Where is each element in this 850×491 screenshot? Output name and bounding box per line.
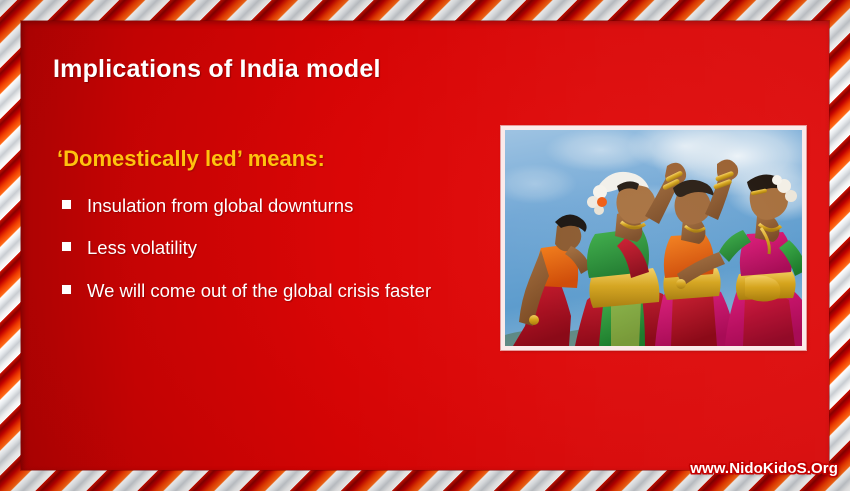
slide-frame: Implications of India model ‘Domesticall… bbox=[0, 0, 850, 491]
list-item-label: We will come out of the global crisis fa… bbox=[87, 280, 431, 301]
list-item: Insulation from global downturns bbox=[57, 193, 487, 219]
presentation-slide: Implications of India model ‘Domesticall… bbox=[21, 21, 829, 470]
indian-dancers-photo bbox=[505, 130, 802, 346]
bullet-list: Insulation from global downturns Less vo… bbox=[57, 193, 487, 320]
square-bullet-icon bbox=[62, 242, 71, 251]
photo-frame bbox=[501, 126, 806, 350]
list-item-label: Less volatility bbox=[87, 237, 197, 258]
subheading: ‘Domestically led’ means: bbox=[57, 146, 325, 172]
list-item: We will come out of the global crisis fa… bbox=[57, 278, 487, 304]
watermark: www.NidoKidoS.Org bbox=[690, 460, 838, 477]
square-bullet-icon bbox=[62, 200, 71, 209]
list-item-label: Insulation from global downturns bbox=[87, 195, 353, 216]
list-item: Less volatility bbox=[57, 235, 487, 261]
square-bullet-icon bbox=[62, 285, 71, 294]
page-title: Implications of India model bbox=[53, 55, 381, 84]
